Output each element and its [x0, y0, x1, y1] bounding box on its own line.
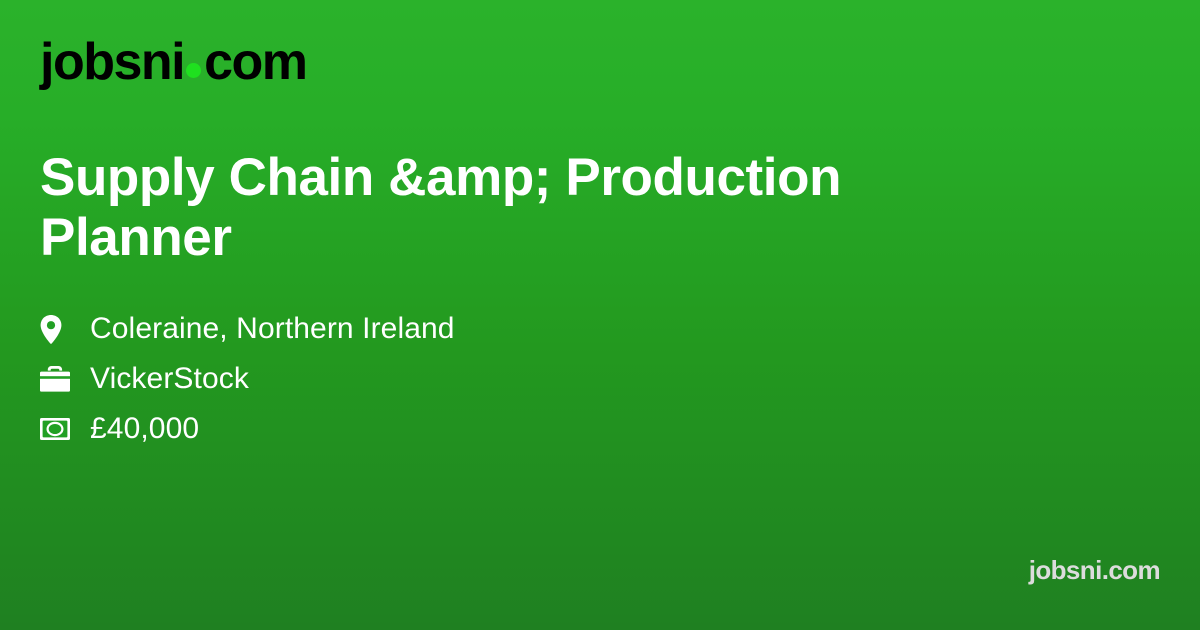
salary-label: £40,000 — [90, 414, 199, 444]
list-item-location: Coleraine, Northern Ireland — [40, 304, 455, 354]
logo-text-secondary: com — [204, 36, 306, 88]
site-logo[interactable]: jobsni com — [40, 36, 307, 88]
list-item-salary: £40,000 — [40, 404, 455, 454]
map-marker-icon — [40, 314, 74, 344]
company-label: VickerStock — [90, 364, 249, 394]
money-note-icon — [40, 414, 74, 444]
location-label: Coleraine, Northern Ireland — [90, 314, 455, 344]
green-dot-icon — [186, 63, 201, 78]
logo-text-primary: jobsni — [40, 36, 184, 88]
page-title: Supply Chain &amp; Production Planner — [40, 148, 980, 268]
list-item-company: VickerStock — [40, 354, 455, 404]
briefcase-icon — [40, 364, 74, 394]
job-details-list: Coleraine, Northern Ireland VickerStock … — [40, 304, 455, 454]
footer-watermark: jobsni.com — [1029, 555, 1160, 586]
